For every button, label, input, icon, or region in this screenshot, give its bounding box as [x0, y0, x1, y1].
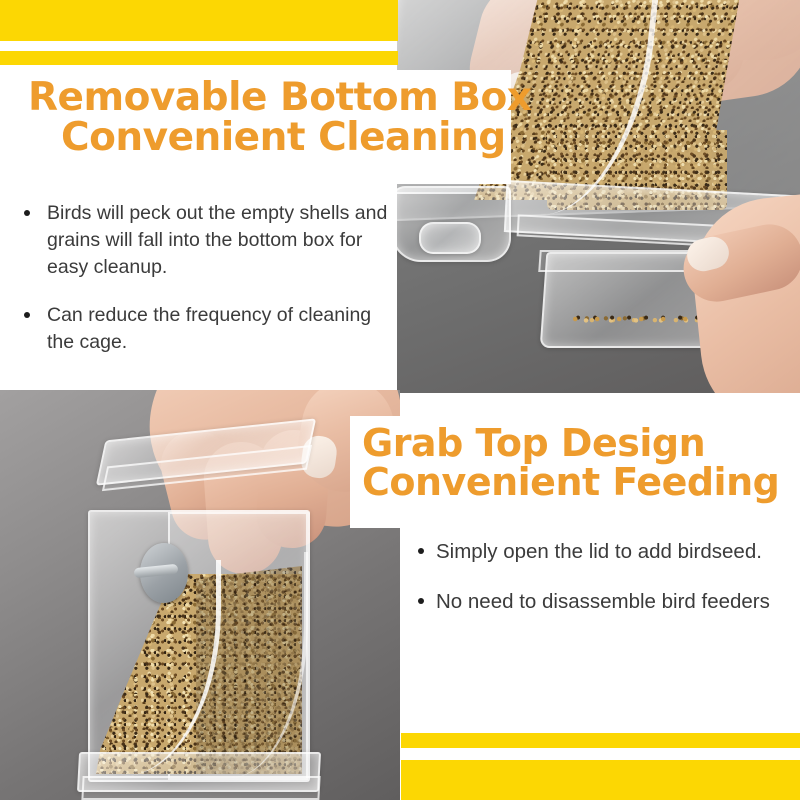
top-left-thick-yellow-bar: [0, 0, 398, 41]
bullet-list-removable-bottom-box: Birds will peck out the empty shells and…: [20, 200, 388, 377]
hand-removing-bottom-tray-photo: [397, 0, 800, 393]
infographic-canvas: Removable Bottom Box Convenient Cleaning…: [0, 0, 800, 800]
list-item: Can reduce the frequency of cleaning the…: [20, 302, 388, 356]
bullet-list-grab-top-design: Simply open the lid to add birdseed. No …: [418, 537, 790, 637]
headline-removable-bottom-box: Removable Bottom Box Convenient Cleaning: [28, 78, 531, 158]
bottom-right-thin-yellow-bar: [401, 733, 800, 748]
headline-line-2: Convenient Feeding: [362, 463, 779, 502]
list-item: Simply open the lid to add birdseed.: [418, 537, 790, 566]
headline-grab-top-design: Grab Top Design Convenient Feeding: [362, 424, 779, 502]
headline-line-1: Grab Top Design: [362, 421, 705, 465]
list-item: Birds will peck out the empty shells and…: [20, 200, 388, 281]
headline-line-2: Convenient Cleaning: [61, 118, 531, 158]
top-left-thin-yellow-bar: [0, 51, 398, 65]
bottom-right-thick-yellow-bar: [401, 760, 800, 800]
feeder-base-tray-lip: [81, 776, 320, 800]
list-item: No need to disassemble bird feeders: [418, 587, 790, 616]
hand-lifting-lid-photo: [0, 390, 400, 800]
clamp-screw: [419, 222, 481, 254]
headline-line-1: Removable Bottom Box: [28, 75, 531, 120]
